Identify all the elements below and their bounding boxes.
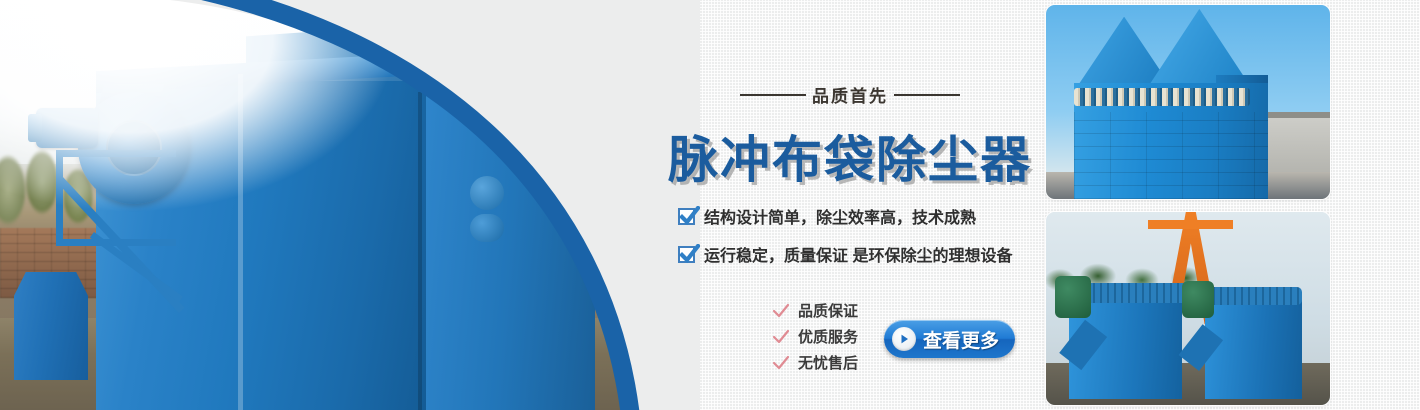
thumb-panel-lines bbox=[1074, 112, 1267, 199]
check-mark-icon bbox=[772, 355, 790, 371]
view-more-label: 查看更多 bbox=[923, 326, 999, 353]
thumb2-tube-right bbox=[1208, 287, 1302, 304]
mini-feature-label: 优质服务 bbox=[798, 326, 858, 347]
thumb2-crane-bar bbox=[1148, 220, 1233, 230]
view-more-button[interactable]: 查看更多 bbox=[884, 320, 1015, 358]
left-photo-panel bbox=[0, 0, 700, 410]
photo-pipe-flange bbox=[470, 176, 504, 210]
feature-item: 结构设计简单，除尘效率高，技术成熟 bbox=[678, 204, 1048, 228]
play-circle-icon bbox=[892, 327, 916, 351]
feature-item-label: 结构设计简单，除尘效率高，技术成熟 bbox=[704, 204, 976, 228]
checkbox-checked-icon bbox=[678, 246, 695, 263]
photo-pipe-flange-2 bbox=[470, 214, 504, 242]
banner-text-block: 品质首先 脉冲布袋除尘器 结构设计简单，除尘效率高，技术成熟 运行稳 bbox=[660, 0, 1040, 410]
mini-feature-label: 品质保证 bbox=[798, 300, 858, 321]
mini-feature-item: 品质保证 bbox=[772, 300, 858, 321]
product-thumbnail-top[interactable] bbox=[1046, 5, 1330, 199]
photo-motor-cap bbox=[28, 114, 42, 142]
product-thumbnail-bottom[interactable] bbox=[1046, 212, 1330, 405]
photo-body-edge bbox=[238, 74, 243, 410]
mini-feature-item: 无忧售后 bbox=[772, 352, 858, 373]
subtitle-rule-left bbox=[740, 94, 806, 96]
photo-body-edge-2 bbox=[418, 92, 422, 410]
thumb-valve-row bbox=[1074, 88, 1250, 105]
photo-secondary-body bbox=[420, 96, 595, 410]
mini-feature-list: 品质保证 优质服务 无忧售后 bbox=[660, 300, 858, 378]
thumb2-tube-left bbox=[1074, 283, 1193, 302]
photo-small-hopper bbox=[14, 272, 88, 380]
product-banner: 品质首先 脉冲布袋除尘器 结构设计简单，除尘效率高，技术成熟 运行稳 bbox=[0, 0, 1420, 410]
banner-bottom-row: 品质保证 优质服务 无忧售后 bbox=[660, 300, 1040, 378]
check-mark-icon bbox=[772, 303, 790, 319]
feature-item-label: 运行稳定，质量保证 是环保除尘的理想设备 bbox=[704, 242, 1012, 266]
mini-feature-item: 优质服务 bbox=[772, 326, 858, 347]
mini-feature-label: 无忧售后 bbox=[798, 352, 858, 373]
checkbox-checked-icon bbox=[678, 208, 695, 225]
subtitle-row: 品质首先 bbox=[660, 82, 1040, 107]
feature-item: 运行稳定，质量保证 是环保除尘的理想设备 bbox=[678, 242, 1048, 266]
feature-list: 结构设计简单，除尘效率高，技术成熟 运行稳定，质量保证 是环保除尘的理想设备 bbox=[678, 204, 1048, 280]
banner-title: 脉冲布袋除尘器 bbox=[660, 120, 1040, 192]
thumb2-unit-right bbox=[1205, 297, 1302, 399]
subtitle-rule-right bbox=[894, 94, 960, 96]
thumbnail-bottom-image bbox=[1046, 212, 1330, 405]
left-product-photo bbox=[0, 0, 700, 410]
thumb2-fan-right bbox=[1182, 281, 1213, 318]
photo-motor bbox=[36, 108, 98, 148]
check-mark-icon bbox=[772, 329, 790, 345]
banner-subtitle: 品质首先 bbox=[812, 82, 888, 107]
thumb2-fan-left bbox=[1055, 276, 1092, 318]
thumbnail-top-image bbox=[1046, 5, 1330, 199]
